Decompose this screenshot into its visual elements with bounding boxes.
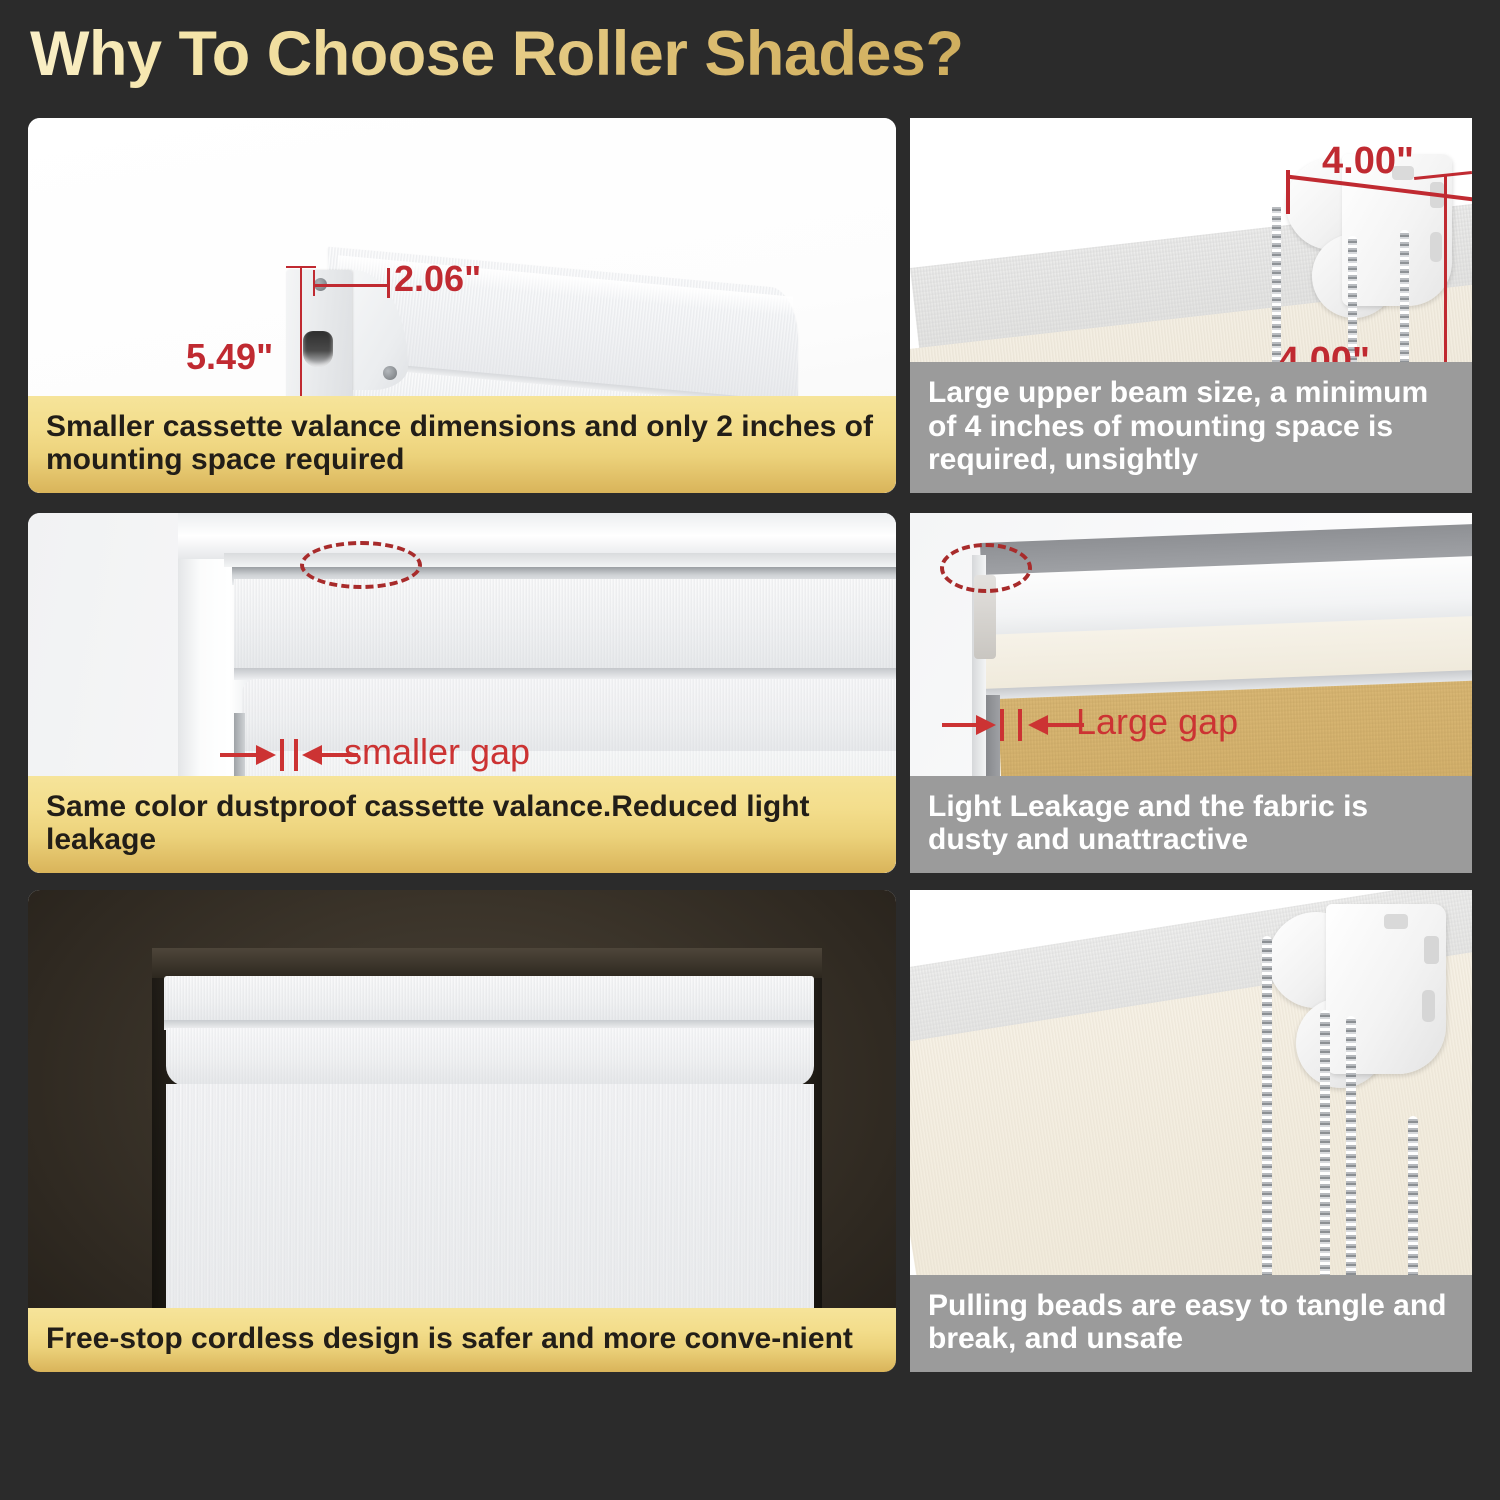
highlight-ellipse-icon (300, 541, 422, 589)
height-dimension-label: 5.49" (186, 336, 273, 378)
highlight-ellipse-icon (940, 543, 1032, 593)
caption-con-large-upper-beam: Large upper beam size, a minimum of 4 in… (910, 362, 1472, 493)
caption-pro-cassette-dimensions: Smaller cassette valance dimensions and … (28, 396, 896, 493)
width-dimension-label: 2.06" (394, 258, 481, 300)
clover-bracket (1266, 900, 1466, 1116)
width-dimension-line (313, 284, 389, 287)
caption-con-pulling-beads: Pulling beads are easy to tangle and bre… (910, 1275, 1472, 1372)
width-dimension-label: 4.00" (1322, 140, 1414, 183)
gap-arrows-icon (218, 735, 538, 775)
panel-pro-cassette-dimensions: 2.06" 5.49" Smaller cassette valance dim… (28, 118, 896, 493)
roller-tube (166, 1028, 814, 1086)
photo-room-window-cordless (28, 890, 896, 1372)
shade-fabric (166, 1084, 814, 1336)
caption-con-light-leakage: Light Leakage and the fabric is dusty an… (910, 776, 1472, 873)
caption-pro-cordless-design: Free-stop cordless design is safer and m… (28, 1308, 896, 1372)
panel-con-large-upper-beam: 4.00" 4.00" Large upper beam size, a min… (910, 118, 1472, 493)
panel-pro-dustproof-valance: smaller gap Same color dustproof cassett… (28, 513, 896, 873)
panel-con-pulling-beads: Pulling beads are easy to tangle and bre… (910, 890, 1472, 1372)
gap-arrows-icon (940, 705, 1240, 745)
panel-con-light-leakage: Large gap Light Leakage and the fabric i… (910, 513, 1472, 873)
screw-icon (383, 366, 397, 380)
caption-pro-dustproof-valance: Same color dustproof cassette valance.Re… (28, 776, 896, 873)
valance-slot (303, 331, 333, 367)
panel-pro-cordless-design: Free-stop cordless design is safer and m… (28, 890, 896, 1372)
comparison-grid: 2.06" 5.49" Smaller cassette valance dim… (0, 0, 1500, 1500)
